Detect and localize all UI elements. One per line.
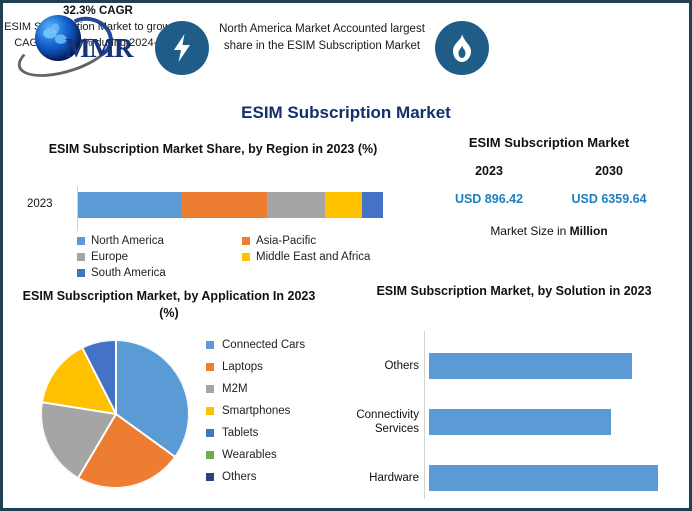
region-legend-item[interactable]: North America <box>77 233 242 249</box>
pie-slice-divider <box>77 413 116 478</box>
solution-category-label: Connectivity Services <box>343 408 424 436</box>
region-legend-label: Asia-Pacific <box>256 235 316 247</box>
legend-swatch-icon <box>77 253 85 261</box>
solution-bar-row: Others <box>343 349 683 383</box>
logo-text: MMR <box>65 33 132 64</box>
solution-chart-plot: OthersConnectivity ServicesHardware <box>343 331 683 501</box>
pie-slice-divider <box>115 413 176 458</box>
solution-category-label: Others <box>343 359 424 373</box>
region-legend-item[interactable]: South America <box>77 265 242 281</box>
region-segment <box>362 192 383 218</box>
region-legend-label: Middle East and Africa <box>256 251 370 263</box>
application-legend-item[interactable]: Connected Cars <box>206 334 336 356</box>
market-size-footnote: Market Size in Million <box>415 224 683 238</box>
region-share-chart: ESIM Subscription Market Share, by Regio… <box>11 141 411 281</box>
legend-swatch-icon <box>206 341 214 349</box>
application-legend-label: Tablets <box>222 427 258 439</box>
infographic-page: MMR North America Market Accounted large… <box>0 0 692 511</box>
north-america-badge-text: North America Market Accounted largest s… <box>217 21 427 54</box>
pie-slice-divider <box>43 401 116 415</box>
solution-bar <box>429 465 658 491</box>
region-legend-item[interactable]: Asia-Pacific <box>242 233 407 249</box>
market-size-title: ESIM Subscription Market <box>415 135 683 150</box>
legend-swatch-icon <box>206 407 214 415</box>
solution-bar-chart: ESIM Subscription Market, by Solution in… <box>343 283 685 508</box>
solution-bar-row: Hardware <box>343 461 683 495</box>
lightning-bolt-icon <box>155 21 209 75</box>
application-legend-label: M2M <box>222 383 248 395</box>
market-size-value-2023: USD 896.42 <box>429 192 549 206</box>
application-pie-chart: ESIM Subscription Market, by Application… <box>11 288 341 508</box>
region-chart-plot: 2023 <box>11 186 403 231</box>
pie-slice-divider <box>82 348 117 415</box>
market-size-year-2030: 2030 <box>549 164 669 178</box>
legend-swatch-icon <box>242 253 250 261</box>
application-legend-item[interactable]: Others <box>206 466 336 488</box>
region-legend-item[interactable]: Europe <box>77 249 242 265</box>
application-chart-title: ESIM Subscription Market, by Application… <box>19 288 319 322</box>
application-legend-label: Connected Cars <box>222 339 305 351</box>
legend-swatch-icon <box>206 451 214 459</box>
flame-icon <box>435 21 489 75</box>
market-size-value-2030: USD 6359.64 <box>549 192 669 206</box>
application-legend: Connected CarsLaptopsM2MSmartphonesTable… <box>206 334 336 488</box>
pie-graphic <box>41 340 189 488</box>
market-size-panel: ESIM Subscription Market 2023 2030 USD 8… <box>415 135 683 255</box>
market-size-footnote-prefix: Market Size in <box>490 224 569 238</box>
region-segment <box>182 192 267 218</box>
legend-swatch-icon <box>206 473 214 481</box>
legend-swatch-icon <box>77 269 85 277</box>
market-size-unit: Million <box>570 224 608 238</box>
legend-swatch-icon <box>206 363 214 371</box>
region-segment <box>78 192 182 218</box>
region-legend-label: North America <box>91 235 164 247</box>
application-legend-label: Others <box>222 471 257 483</box>
application-legend-label: Laptops <box>222 361 263 373</box>
legend-swatch-icon <box>77 237 85 245</box>
region-legend-label: Europe <box>91 251 128 263</box>
solution-bar <box>429 409 611 435</box>
market-size-year-2023: 2023 <box>429 164 549 178</box>
solution-bar-row: Connectivity Services <box>343 405 683 439</box>
application-legend-item[interactable]: M2M <box>206 378 336 400</box>
region-stacked-bar <box>78 192 383 218</box>
application-legend-item[interactable]: Smartphones <box>206 400 336 422</box>
application-legend-label: Smartphones <box>222 405 290 417</box>
application-legend-item[interactable]: Wearables <box>206 444 336 466</box>
application-legend-item[interactable]: Laptops <box>206 356 336 378</box>
legend-swatch-icon <box>242 237 250 245</box>
region-category-label: 2023 <box>27 198 53 210</box>
market-size-values: USD 896.42 USD 6359.64 <box>415 192 683 206</box>
region-legend-label: South America <box>91 267 166 279</box>
header-bar: MMR North America Market Accounted large… <box>3 3 689 95</box>
market-size-years: 2023 2030 <box>415 164 683 178</box>
region-legend-item[interactable]: Middle East and Africa <box>242 249 407 265</box>
application-legend-label: Wearables <box>222 449 277 461</box>
mmr-logo[interactable]: MMR <box>13 11 133 73</box>
region-legend: North AmericaAsia-PacificEuropeMiddle Ea… <box>77 233 407 281</box>
legend-swatch-icon <box>206 385 214 393</box>
solution-chart-title: ESIM Subscription Market, by Solution in… <box>349 283 679 300</box>
application-legend-item[interactable]: Tablets <box>206 422 336 444</box>
legend-swatch-icon <box>206 429 214 437</box>
region-segment <box>267 192 325 218</box>
page-title: ESIM Subscription Market <box>3 103 689 123</box>
solution-category-label: Hardware <box>343 471 424 485</box>
pie-slice-divider <box>115 340 117 414</box>
region-segment <box>325 192 362 218</box>
region-chart-title: ESIM Subscription Market Share, by Regio… <box>21 141 405 158</box>
solution-bar <box>429 353 632 379</box>
